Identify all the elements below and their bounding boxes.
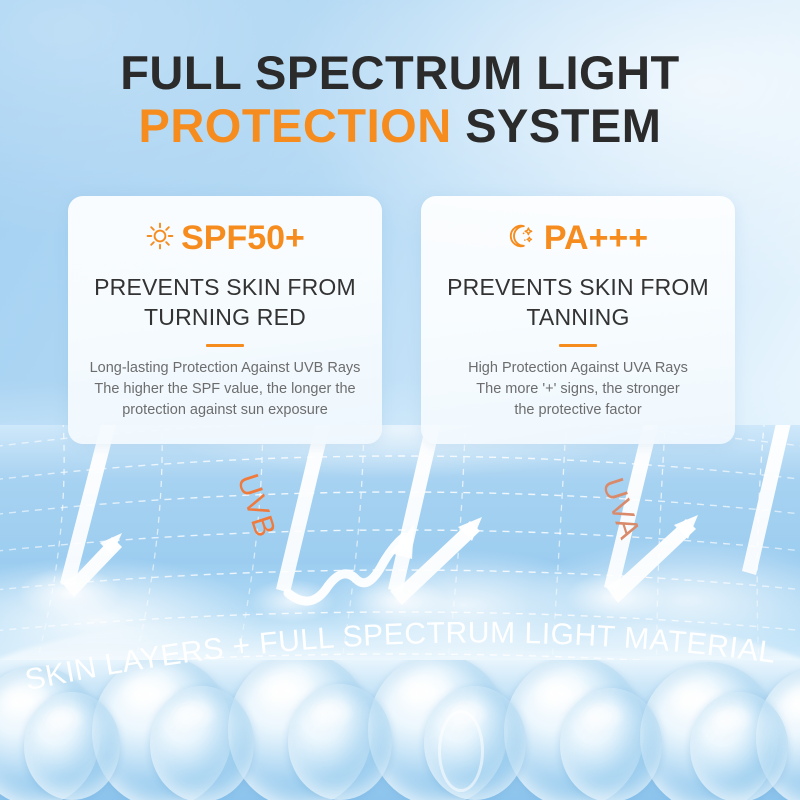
card-spf-badge: SPF50+ [181,221,305,255]
headline-accent-word: PROTECTION [139,99,452,152]
card-pa-heading: PREVENTS SKIN FROM TANNING [435,272,721,332]
card-spf-body-line-2: The higher the SPF value, the longer the [82,379,368,400]
card-spf-heading-line-1: PREVENTS SKIN FROM [82,272,368,302]
card-pa-header: PA+++ [435,218,721,258]
card-pa-heading-line-2: TANNING [435,302,721,332]
card-pa-body: High Protection Against UVA Rays The mor… [435,358,721,421]
card-spf-heading: PREVENTS SKIN FROM TURNING RED [82,272,368,332]
headline-line-1: FULL SPECTRUM LIGHT [0,46,800,99]
diagram-caption: SKIN LAYERS + FULL SPECTRUM LIGHT MATERI… [0,596,800,706]
card-pa-body-line-2: The more '+' signs, the stronger [435,379,721,400]
product-infographic-poster: UVB UVA FULL SPECTRUM LIGHT PROTECTION S… [0,0,800,800]
feature-card-group: SPF50+ PREVENTS SKIN FROM TURNING RED Lo… [68,196,735,444]
card-spf-header: SPF50+ [82,218,368,258]
card-pa-body-line-3: the protective factor [435,400,721,421]
card-spf-heading-line-2: TURNING RED [82,302,368,332]
card-spf-body-line-3: protection against sun exposure [82,400,368,421]
card-spf-body: Long-lasting Protection Against UVB Rays… [82,358,368,421]
feature-card-pa[interactable]: PA+++ PREVENTS SKIN FROM TANNING High Pr… [421,196,735,444]
headline-line-2: PROTECTION SYSTEM [0,99,800,152]
card-spf-body-line-1: Long-lasting Protection Against UVB Rays [82,358,368,379]
light-ray-arrows [60,425,796,605]
poster-headline: FULL SPECTRUM LIGHT PROTECTION SYSTEM [0,46,800,152]
diagram-caption-text: SKIN LAYERS + FULL SPECTRUM LIGHT MATERI… [0,596,786,697]
card-pa-badge: PA+++ [544,221,648,255]
card-pa-divider [559,344,597,347]
sun-icon [145,221,175,256]
headline-line-2-rest: SYSTEM [452,99,662,152]
card-pa-body-line-1: High Protection Against UVA Rays [435,358,721,379]
feature-card-spf[interactable]: SPF50+ PREVENTS SKIN FROM TURNING RED Lo… [68,196,382,444]
moon-stars-icon [508,221,538,256]
card-spf-divider [206,344,244,347]
card-pa-heading-line-1: PREVENTS SKIN FROM [435,272,721,302]
